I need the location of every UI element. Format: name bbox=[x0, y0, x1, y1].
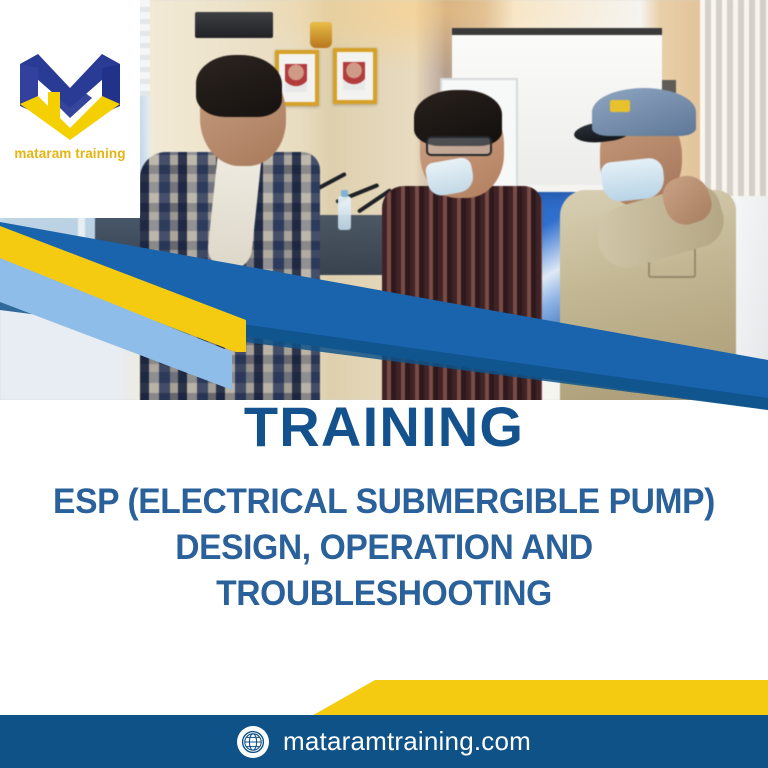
photo-person-hair bbox=[196, 55, 282, 117]
course-title-line-3: TROUBLESHOOTING bbox=[15, 571, 752, 617]
globe-icon bbox=[237, 726, 269, 758]
photo-person-eyeglasses bbox=[426, 136, 492, 156]
training-poster: mataram training TRAINING ESP (ELECTRICA… bbox=[0, 0, 768, 768]
photo-cap-logo bbox=[610, 100, 630, 112]
photo-person-striped-shirt bbox=[382, 186, 542, 400]
photo-wall-portrait bbox=[333, 48, 377, 104]
logo-panel: mataram training bbox=[0, 0, 140, 218]
page-title: TRAINING bbox=[0, 392, 768, 457]
logo-caption: mataram training bbox=[0, 146, 140, 161]
mataram-m-logo-icon bbox=[16, 48, 124, 140]
photo-chair-far bbox=[8, 232, 60, 302]
course-title-line-1: ESP (ELECTRICAL SUBMERGIBLE PUMP) bbox=[15, 479, 752, 525]
course-title-line-2: DESIGN, OPERATION AND bbox=[15, 525, 752, 571]
course-title: ESP (ELECTRICAL SUBMERGIBLE PUMP) DESIGN… bbox=[15, 457, 752, 618]
footer-bar: mataramtraining.com bbox=[0, 715, 768, 768]
photo-ceiling-unit bbox=[195, 12, 273, 38]
photo-person-cap bbox=[592, 88, 696, 136]
website-url[interactable]: mataramtraining.com bbox=[283, 726, 531, 757]
photo-wall-emblem bbox=[310, 22, 332, 48]
poster-text-block: TRAINING ESP (ELECTRICAL SUBMERGIBLE PUM… bbox=[0, 392, 768, 702]
photo-water-bottle bbox=[338, 196, 351, 230]
